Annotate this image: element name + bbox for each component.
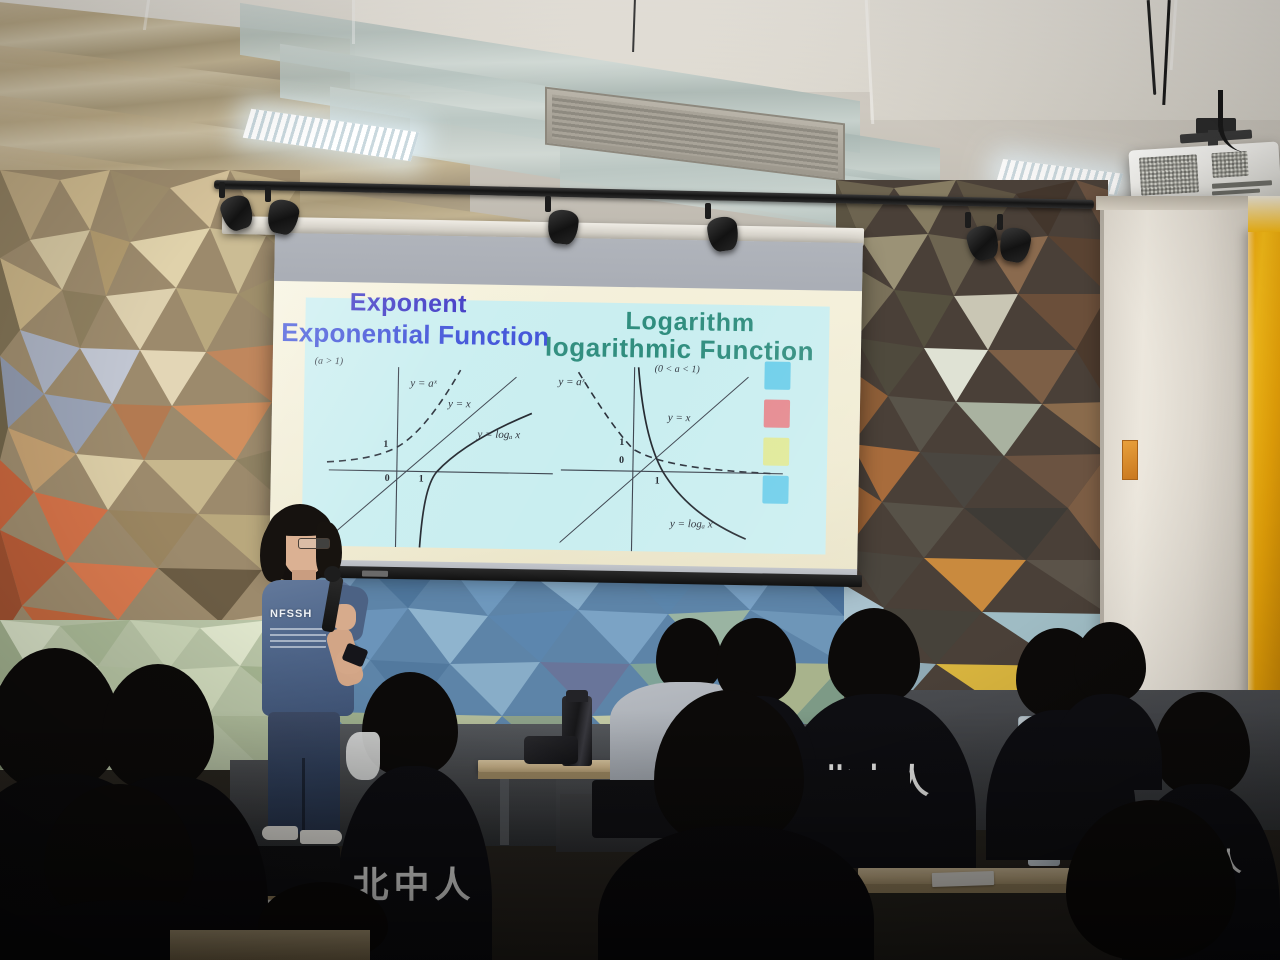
spotlight-stem — [545, 196, 551, 212]
wall-sign — [1122, 440, 1138, 480]
audience-head — [1154, 692, 1250, 796]
left-graph-tick-y-one: 1 — [383, 439, 388, 450]
left-graph-label-exponential: y = aˣ — [410, 377, 437, 389]
projector-exhaust-grill — [1211, 151, 1248, 178]
thermos-cap — [566, 690, 588, 702]
swatch-cyan-bottom — [762, 475, 788, 503]
left-graph-label-identity: y = x — [448, 398, 471, 410]
presenter-hair-side — [260, 524, 286, 582]
microphone-head — [324, 566, 341, 582]
audience-shirt-black — [1052, 694, 1162, 790]
spotlight-stem — [997, 214, 1003, 230]
foreground-head — [102, 664, 214, 790]
foreground-head-5 — [1042, 800, 1252, 960]
ceiling-seam-2 — [352, 0, 355, 44]
left-graph-condition-label: (a > 1) — [315, 356, 344, 367]
pencil-pouch[interactable] — [524, 736, 578, 764]
right-graph-label-exponential: y = aˣ — [558, 376, 585, 388]
projector-intake-grill — [1139, 154, 1199, 195]
banner-upper-yellow — [1248, 196, 1280, 232]
swatch-yellow — [763, 437, 789, 465]
right-graph-condition-label: (0 < a < 1) — [655, 364, 700, 376]
worksheet-papers-right[interactable] — [932, 871, 994, 887]
audience-head — [1074, 622, 1146, 702]
spotlight-stem — [219, 182, 225, 198]
audience-member-far-right-3 — [1052, 622, 1162, 772]
right-graph-tick-origin: 0 — [619, 455, 624, 466]
left-graph-tick-origin: 0 — [385, 473, 390, 484]
foreground-desk-strip — [170, 930, 370, 960]
classroom-scene: National Feng-Shan Senior High Exponent … — [0, 0, 1280, 960]
right-graph-label-identity: y = x — [668, 412, 691, 424]
left-graph-label-logarithm: y = logₐ x — [477, 428, 520, 441]
audience-head — [828, 608, 920, 704]
presenter-leg-split — [302, 758, 305, 834]
spotlight-stem — [265, 186, 271, 202]
left-graph-tick-x-one: 1 — [419, 473, 424, 484]
banner-edge-highlight — [1248, 230, 1255, 700]
slide-heading-exponential-function: Exponential Function — [281, 317, 550, 353]
school-banner: National Feng-Shan Senior High — [1248, 230, 1280, 700]
slide-heading-exponent: Exponent — [349, 288, 467, 319]
spotlight-stem — [705, 203, 711, 219]
foreground-head — [654, 690, 804, 846]
graph-exponential-base-between-zero-and-one: (0 < a < 1) y = aˣ y = x y = logₐ x 1 0 … — [559, 364, 792, 558]
right-graph-tick-x-one: 1 — [655, 476, 660, 487]
presenter-glasses — [298, 538, 330, 549]
swatch-cyan-top — [764, 361, 790, 389]
right-graph-label-logarithm: y = logₐ x — [670, 518, 713, 531]
desk-center-leg — [500, 779, 509, 845]
face-mask — [346, 732, 380, 780]
presenter-shoe-left — [262, 826, 298, 840]
presenter-shirt-subtext — [270, 626, 326, 648]
spotlight-stem — [965, 212, 971, 228]
foreground-head — [1066, 800, 1236, 960]
swatch-red — [764, 399, 790, 427]
foreground-head-4 — [644, 690, 824, 960]
right-graph-tick-y-one: 1 — [619, 437, 624, 448]
